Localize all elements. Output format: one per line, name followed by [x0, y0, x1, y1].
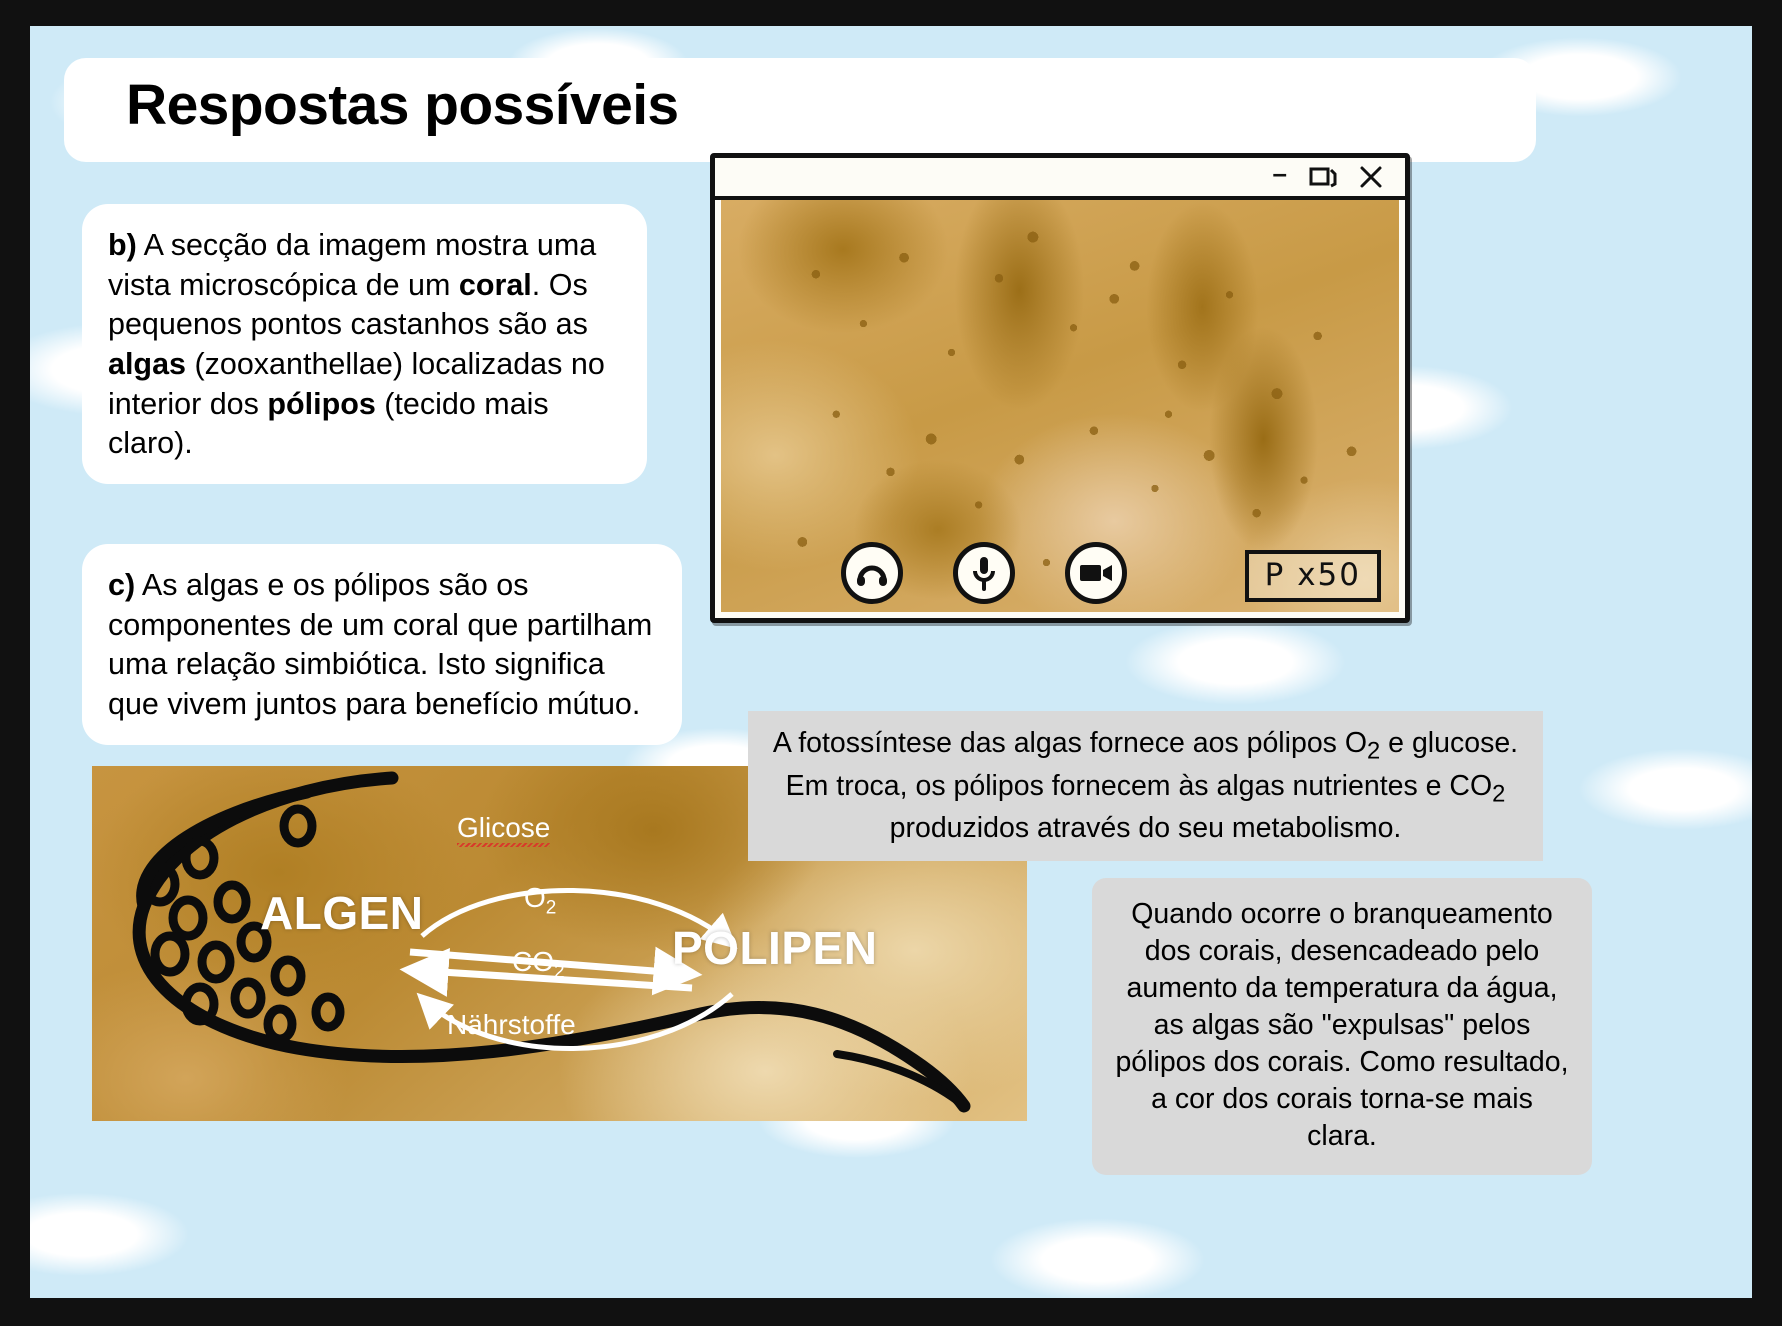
callout-photosynthesis-line3end: produzidos através do seu metabolismo.: [890, 812, 1402, 844]
answer-b-bold-algas: algas: [108, 347, 186, 381]
headphones-icon[interactable]: [841, 542, 903, 604]
callout-photosynthesis-line1end: e: [1380, 727, 1404, 759]
slide-frame: Respostas possíveis b) A secção da image…: [0, 0, 1782, 1326]
window-titlebar: –: [715, 158, 1405, 200]
close-icon[interactable]: [1359, 165, 1383, 189]
slide-canvas: Respostas possíveis b) A secção da image…: [30, 26, 1752, 1298]
answer-b-bold-polipos: pólipos: [267, 387, 375, 421]
oxygen-symbol: O: [524, 882, 546, 913]
callout-photosynthesis-sub1: 2: [1367, 738, 1380, 765]
diagram-label-algen: ALGEN: [260, 886, 424, 940]
callout-photosynthesis: A fotossíntese das algas fornece aos pól…: [748, 711, 1543, 861]
page-title: Respostas possíveis: [126, 72, 679, 138]
callout-bleaching: Quando ocorre o branqueamento dos corais…: [1092, 878, 1592, 1175]
microscope-window: –: [710, 153, 1410, 623]
callout-photosynthesis-line3: nutrientes e CO: [1293, 770, 1493, 802]
title-banner: Respostas possíveis: [64, 58, 1536, 162]
microscope-slide-photo: P x50: [721, 200, 1399, 612]
answer-bubble-c: c) As algas e os pólipos são os componen…: [82, 544, 682, 745]
answer-bubble-b: b) A secção da imagem mostra uma vista m…: [82, 204, 647, 484]
microscope-toolbar: [841, 542, 1127, 604]
diagram-label-carbon-dioxide: CO2: [512, 946, 565, 984]
co2-symbol: CO: [512, 946, 554, 977]
answer-c-text: As algas e os pólipos são os componentes…: [108, 568, 652, 721]
diagram-label-nahrstoffe: Nährstoffe: [447, 1009, 576, 1041]
maximize-icon[interactable]: [1309, 166, 1337, 188]
minimize-icon[interactable]: –: [1273, 160, 1287, 186]
video-camera-icon[interactable]: [1065, 542, 1127, 604]
answer-c-marker: c): [108, 568, 135, 602]
callout-photosynthesis-line1: A fotossíntese das algas fornece aos pól…: [773, 727, 1367, 759]
magnification-badge: P x50: [1245, 550, 1381, 602]
answer-b-marker: b): [108, 228, 137, 262]
diagram-label-polipen: POLIPEN: [672, 921, 877, 975]
oxygen-subscript: 2: [546, 898, 557, 919]
callout-photosynthesis-sub3: 2: [1492, 780, 1505, 807]
microphone-icon[interactable]: [953, 542, 1015, 604]
diagram-label-glicose: Glicose: [457, 812, 550, 844]
co2-subscript: 2: [554, 962, 565, 983]
diagram-label-oxygen: O2: [524, 882, 556, 920]
answer-b-bold-coral: coral: [459, 268, 532, 302]
